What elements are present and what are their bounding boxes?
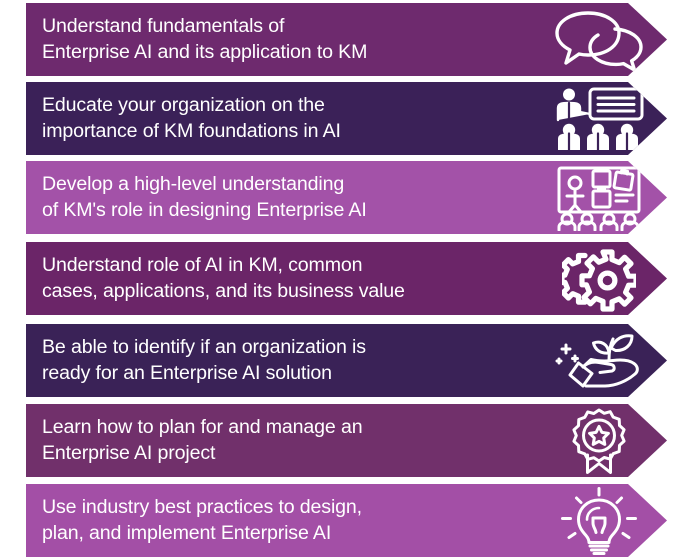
banner-row-1[interactable]: Understand fundamentals of Enterprise AI… — [26, 3, 667, 76]
gear-icon — [547, 242, 651, 315]
speech-bubbles-icon — [547, 3, 651, 76]
banner-row-4[interactable]: Understand role of AI in KM, common case… — [26, 242, 667, 315]
banner-row-5[interactable]: Be able to identify if an organization i… — [26, 324, 667, 397]
hand-sprout-icon — [547, 324, 651, 397]
banner-row-3[interactable]: Develop a high-level understanding of KM… — [26, 161, 667, 234]
banner-text-4: Understand role of AI in KM, common case… — [26, 253, 547, 304]
award-ribbon-icon — [547, 404, 651, 477]
banner-row-7[interactable]: Use industry best practices to design, p… — [26, 484, 667, 557]
banner-text-1: Understand fundamentals of Enterprise AI… — [26, 14, 547, 65]
workshop-board-icon — [547, 161, 651, 234]
lightbulb-icon — [547, 484, 651, 557]
presenter-audience-icon — [547, 82, 651, 155]
banner-row-2[interactable]: Educate your organization on the importa… — [26, 82, 667, 155]
banner-text-7: Use industry best practices to design, p… — [26, 495, 547, 546]
banner-text-3: Develop a high-level understanding of KM… — [26, 172, 547, 223]
banner-row-6[interactable]: Learn how to plan for and manage an Ente… — [26, 404, 667, 477]
banner-text-2: Educate your organization on the importa… — [26, 93, 547, 144]
infographic-canvas: Understand fundamentals of Enterprise AI… — [0, 0, 689, 560]
banner-text-6: Learn how to plan for and manage an Ente… — [26, 415, 547, 466]
banner-text-5: Be able to identify if an organization i… — [26, 335, 547, 386]
